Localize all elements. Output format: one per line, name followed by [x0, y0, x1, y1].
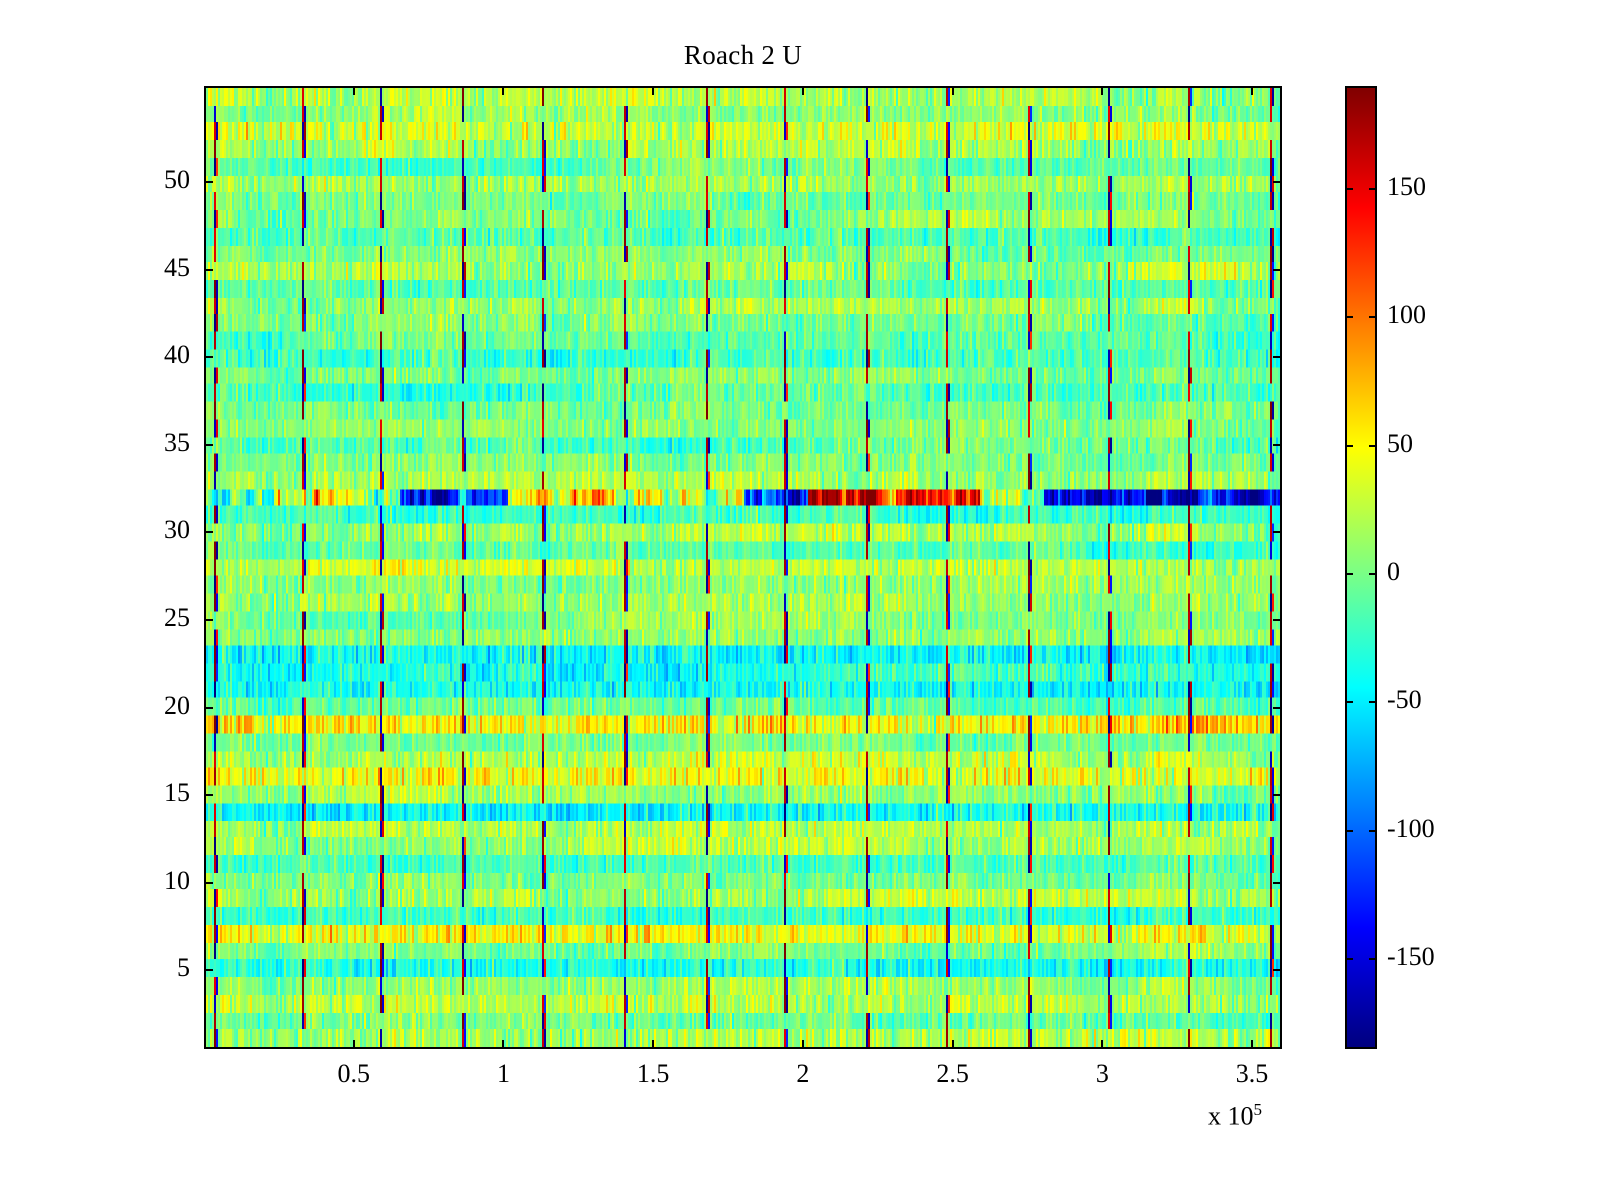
y-tick-mark — [1273, 969, 1282, 971]
colorbar-tick-mark — [1345, 188, 1353, 190]
y-tick-mark — [204, 181, 213, 183]
colorbar-tick-label: -50 — [1387, 685, 1422, 715]
x-exponent-power: 5 — [1254, 1100, 1263, 1119]
page-title: Roach 2 U — [204, 40, 1282, 71]
colorbar-tick-mark — [1345, 701, 1353, 703]
x-tick-mark — [1251, 1040, 1253, 1049]
x-tick-mark — [802, 1040, 804, 1049]
x-tick-mark — [1101, 86, 1103, 95]
y-tick-mark — [204, 794, 213, 796]
colorbar-tick-label: 100 — [1387, 300, 1426, 330]
colorbar-tick-mark — [1369, 701, 1377, 703]
colorbar-tick-mark — [1345, 830, 1353, 832]
colorbar-tick-mark — [1345, 445, 1353, 447]
x-tick-mark — [1251, 86, 1253, 95]
x-exponent-base: x 10 — [1208, 1102, 1254, 1131]
x-tick-mark — [952, 1040, 954, 1049]
y-tick-mark — [1273, 531, 1282, 533]
colorbar-tick-label: -100 — [1387, 814, 1435, 844]
y-tick-mark — [204, 707, 213, 709]
y-tick-label: 30 — [94, 515, 190, 545]
y-tick-label: 15 — [94, 778, 190, 808]
y-tick-mark — [204, 531, 213, 533]
y-tick-mark — [204, 619, 213, 621]
x-axis-exponent-label: x 105 — [1208, 1100, 1262, 1132]
x-tick-label: 0.5 — [294, 1059, 414, 1089]
x-tick-mark — [353, 86, 355, 95]
x-tick-mark — [652, 86, 654, 95]
y-tick-mark — [204, 882, 213, 884]
x-tick-label: 3.5 — [1192, 1059, 1312, 1089]
y-tick-mark — [204, 969, 213, 971]
y-tick-mark — [204, 356, 213, 358]
y-tick-label: 40 — [94, 340, 190, 370]
colorbar-tick-label: -150 — [1387, 942, 1435, 972]
y-tick-label: 20 — [94, 691, 190, 721]
y-tick-mark — [204, 444, 213, 446]
y-tick-mark — [1273, 882, 1282, 884]
y-tick-label: 35 — [94, 428, 190, 458]
heatmap-axes[interactable] — [204, 86, 1282, 1049]
colorbar-tick-mark — [1345, 316, 1353, 318]
y-tick-label: 5 — [94, 953, 190, 983]
x-tick-mark — [952, 86, 954, 95]
figure-canvas: Roach 2 U 5101520253035404550 0.511.522.… — [0, 0, 1600, 1200]
x-tick-label: 1 — [443, 1059, 563, 1089]
x-tick-mark — [1101, 1040, 1103, 1049]
colorbar-tick-mark — [1369, 958, 1377, 960]
y-tick-label: 10 — [94, 866, 190, 896]
y-tick-mark — [1273, 444, 1282, 446]
colorbar-tick-label: 0 — [1387, 557, 1400, 587]
colorbar-tick-mark — [1345, 958, 1353, 960]
x-tick-mark — [502, 86, 504, 95]
colorbar-gradient — [1347, 88, 1375, 1047]
colorbar-tick-mark — [1345, 573, 1353, 575]
colorbar[interactable] — [1345, 86, 1377, 1049]
y-tick-mark — [1273, 707, 1282, 709]
x-tick-mark — [652, 1040, 654, 1049]
colorbar-tick-label: 50 — [1387, 429, 1413, 459]
y-tick-mark — [1273, 181, 1282, 183]
x-tick-label: 1.5 — [593, 1059, 713, 1089]
colorbar-tick-mark — [1369, 445, 1377, 447]
x-tick-mark — [353, 1040, 355, 1049]
x-tick-label: 2.5 — [893, 1059, 1013, 1089]
x-tick-mark — [502, 1040, 504, 1049]
x-tick-mark — [802, 86, 804, 95]
y-tick-mark — [1273, 619, 1282, 621]
y-tick-mark — [204, 269, 213, 271]
colorbar-tick-label: 150 — [1387, 172, 1426, 202]
heatmap-image[interactable] — [206, 88, 1280, 1047]
y-tick-mark — [1273, 269, 1282, 271]
colorbar-tick-mark — [1369, 830, 1377, 832]
y-tick-mark — [1273, 794, 1282, 796]
y-tick-label: 45 — [94, 253, 190, 283]
x-tick-label: 2 — [743, 1059, 863, 1089]
x-tick-label: 3 — [1042, 1059, 1162, 1089]
y-tick-label: 25 — [94, 603, 190, 633]
colorbar-tick-mark — [1369, 316, 1377, 318]
colorbar-tick-mark — [1369, 573, 1377, 575]
y-tick-label: 50 — [94, 165, 190, 195]
colorbar-tick-mark — [1369, 188, 1377, 190]
y-tick-mark — [1273, 356, 1282, 358]
